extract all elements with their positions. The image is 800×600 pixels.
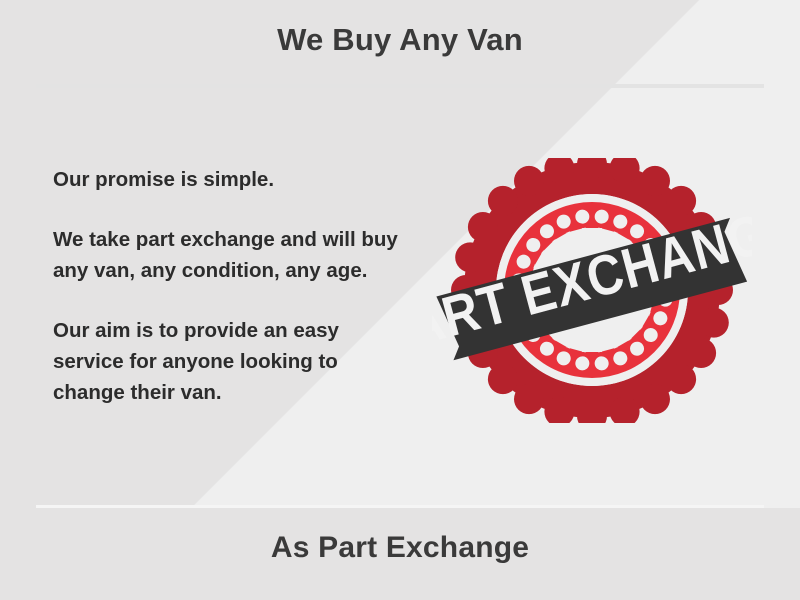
page-title: We Buy Any Van xyxy=(0,22,800,58)
header-divider xyxy=(36,84,764,88)
slide: We Buy Any Van Our promise is simple. We… xyxy=(0,0,800,600)
body-paragraph-3: Our aim is to provide an easy service fo… xyxy=(53,315,413,408)
body-paragraph-2: We take part exchange and will buy any v… xyxy=(53,224,413,286)
body-paragraph-1: Our promise is simple. xyxy=(53,164,413,195)
footer-title: As Part Exchange xyxy=(0,531,800,565)
footer-divider xyxy=(36,505,764,508)
part-exchange-stamp: PART EXCHANGE xyxy=(432,158,752,423)
body-copy: Our promise is simple. We take part exch… xyxy=(53,164,413,408)
